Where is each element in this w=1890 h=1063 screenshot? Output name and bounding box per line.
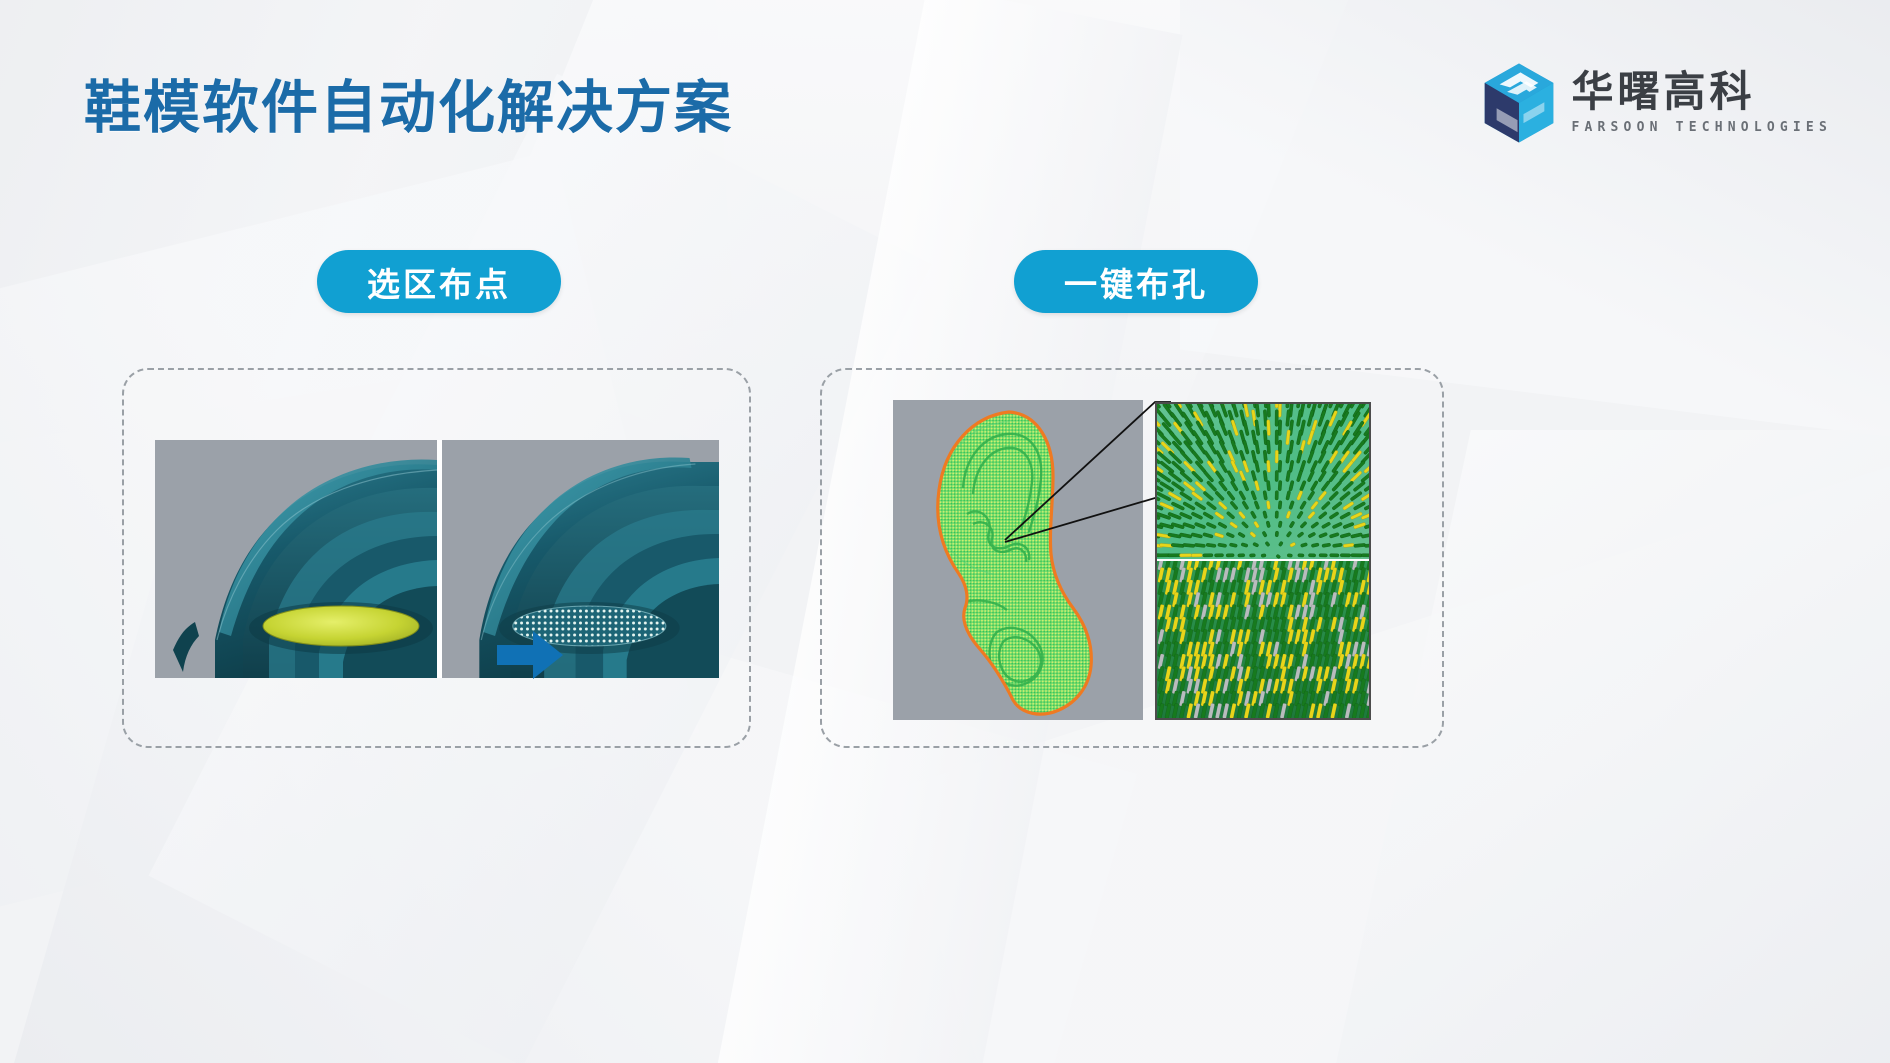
logo-company-en: FARSOON TECHNOLOGIES — [1571, 120, 1832, 135]
logo-company-cn: 华曙高科 — [1571, 71, 1755, 113]
sole-mesh-overview — [893, 400, 1143, 720]
farsoon-cube-logo-icon — [1481, 62, 1557, 144]
shoe-mold-render-pair — [155, 440, 719, 678]
slide-root: 鞋模软件自动化解决方案 华曙高科 FARSOON TECHNOLOGIES 选区… — [0, 0, 1890, 1063]
detail-zoom-top — [1157, 404, 1369, 561]
brand-logo: 华曙高科 FARSOON TECHNOLOGIES — [1481, 62, 1832, 144]
process-arrow-right-icon — [497, 629, 563, 681]
shoe-mold-region-selected — [155, 440, 437, 678]
detail-zoom-bottom — [1157, 561, 1369, 718]
badge-region-point-layout[interactable]: 选区布点 — [317, 250, 561, 313]
page-title: 鞋模软件自动化解决方案 — [84, 62, 733, 144]
detail-zoom-stack — [1155, 402, 1371, 720]
badge-one-click-hole-layout[interactable]: 一键布孔 — [1014, 250, 1258, 313]
shoe-mold-points-placed — [437, 440, 719, 678]
